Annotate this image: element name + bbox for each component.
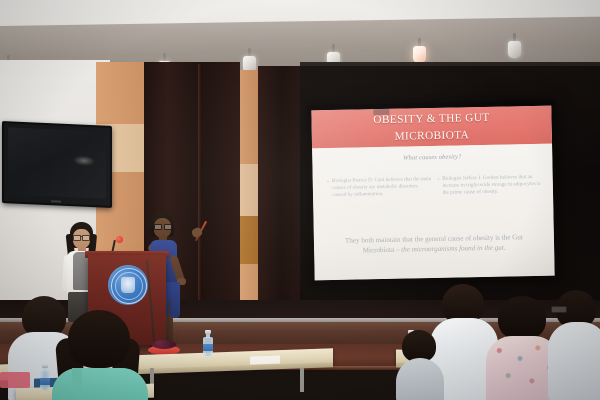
glasses-icon — [73, 235, 90, 239]
wall-mounted-tv — [2, 121, 112, 208]
slide-closing-statement: They both maintain that the general caus… — [333, 232, 535, 257]
conference-photo: OBESITY & THE GUT MICROBIOTA What causes… — [0, 0, 600, 400]
table-leg — [300, 368, 304, 392]
light-shirt — [548, 322, 600, 400]
university-seal-icon — [108, 265, 148, 305]
pink-item — [0, 372, 30, 388]
audience-member — [548, 290, 600, 400]
projection-screen: OBESITY & THE GUT MICROBIOTA What causes… — [307, 101, 559, 286]
tv-brand-mark — [51, 200, 61, 202]
audience-member — [396, 330, 442, 400]
head — [68, 310, 130, 368]
slide-title: OBESITY & THE GUT MICROBIOTA — [311, 109, 552, 147]
screen-glare — [73, 156, 95, 167]
track-light-icon — [413, 38, 426, 64]
bullet-dot-icon: • — [327, 178, 329, 199]
slide-bullet-right: • Biologist Jeffery I. Gordon believes t… — [437, 174, 543, 197]
audience-member — [46, 310, 156, 400]
bullet-dot-icon: • — [437, 176, 439, 197]
shoulder-strap — [72, 368, 82, 390]
tv-screen — [8, 127, 106, 198]
slide-bullet-left: • Biologist Patrice D. Cani believes tha… — [327, 176, 433, 199]
glasses-icon — [551, 306, 567, 313]
head — [498, 296, 546, 340]
slide-surface: OBESITY & THE GUT MICROBIOTA What causes… — [311, 106, 554, 281]
teal-top — [52, 368, 148, 400]
track-light-icon — [508, 33, 521, 59]
microphone-icon — [116, 236, 123, 243]
slide-body: What causes obesity? • Biologist Patrice… — [312, 144, 555, 281]
closing-italic: the microorganisms found in the gut. — [401, 244, 505, 254]
bullet-text: Biologist Patrice D. Cani believes that … — [332, 176, 433, 199]
bullet-text: Biologist Jeffery I. Gordon believes tha… — [442, 174, 543, 197]
grey-shirt — [396, 358, 444, 400]
water-bottle — [203, 330, 213, 356]
glasses-icon — [154, 224, 172, 228]
slide-subtitle: What causes obesity? — [312, 152, 552, 164]
sheet-of-paper — [250, 355, 280, 364]
